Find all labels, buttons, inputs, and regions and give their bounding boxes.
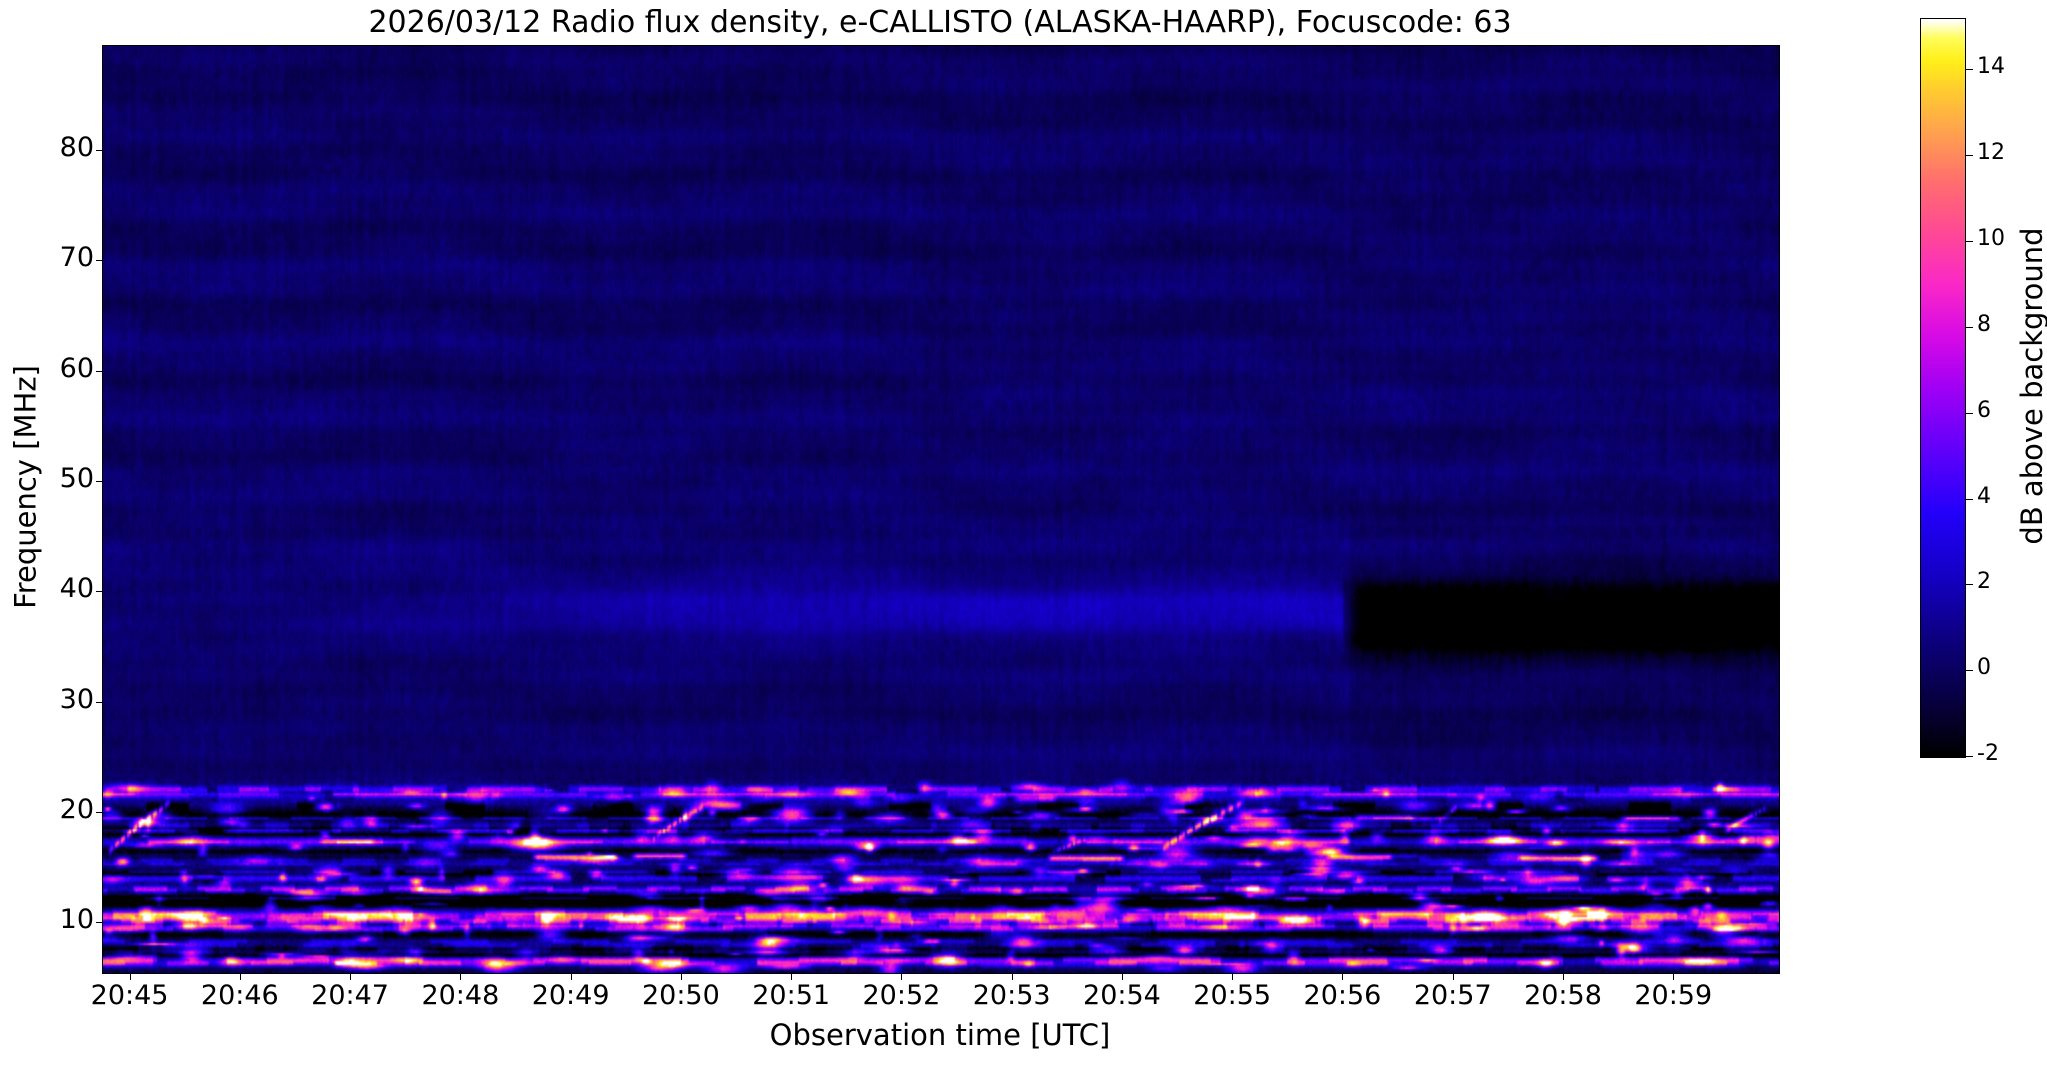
colorbar-tick-mark <box>1966 756 1973 757</box>
colorbar-tick-label: 2 <box>1977 569 1991 594</box>
colorbar-tick-label: 8 <box>1977 312 1991 337</box>
colorbar-tick-mark <box>1966 241 1973 242</box>
x-tick-mark <box>571 973 572 980</box>
y-tick-mark <box>96 371 103 372</box>
x-tick-mark <box>1342 973 1343 980</box>
colorbar-tick-mark <box>1966 499 1973 500</box>
y-axis-label: Frequency [MHz] <box>9 24 43 951</box>
y-tick-mark <box>96 150 103 151</box>
colorbar-tick-label: 4 <box>1977 484 1991 509</box>
x-tick-mark <box>901 973 902 980</box>
colorbar-tick-label: 10 <box>1977 226 2005 251</box>
x-tick-mark <box>681 973 682 980</box>
colorbar-tick-label: 14 <box>1977 54 2005 79</box>
colorbar-tick-mark <box>1966 327 1973 328</box>
x-axis-label: Observation time [UTC] <box>102 1018 1778 1052</box>
x-tick-mark <box>1563 973 1564 980</box>
colorbar-tick-mark <box>1966 413 1973 414</box>
spectrogram-image[interactable] <box>103 46 1779 973</box>
colorbar-gradient <box>1921 19 1965 757</box>
colorbar-tick-mark <box>1966 584 1973 585</box>
y-tick-mark <box>96 702 103 703</box>
x-tick-mark <box>1122 973 1123 980</box>
colorbar-tick-label: 0 <box>1977 655 1991 680</box>
x-tick-mark <box>1673 973 1674 980</box>
x-tick-mark <box>1012 973 1013 980</box>
x-tick-mark <box>1453 973 1454 980</box>
x-tick-mark <box>130 973 131 980</box>
colorbar-tick-label: 6 <box>1977 398 1991 423</box>
x-tick-mark <box>791 973 792 980</box>
x-tick-mark <box>460 973 461 980</box>
figure-canvas: 2026/03/12 Radio flux density, e-CALLIST… <box>0 0 2047 1067</box>
colorbar-tick-label: 12 <box>1977 140 2005 165</box>
colorbar-label: dB above background <box>2015 17 2047 755</box>
x-tick-label: 20:59 <box>1593 980 1753 1011</box>
colorbar-tick-mark <box>1966 155 1973 156</box>
colorbar[interactable] <box>1920 18 1966 758</box>
y-tick-mark <box>96 260 103 261</box>
page-title: 2026/03/12 Radio flux density, e-CALLIST… <box>102 4 1778 42</box>
x-tick-mark <box>350 973 351 980</box>
colorbar-tick-mark <box>1966 670 1973 671</box>
y-tick-mark <box>96 922 103 923</box>
y-tick-mark <box>96 591 103 592</box>
x-tick-mark <box>1232 973 1233 980</box>
y-tick-mark <box>96 481 103 482</box>
y-tick-mark <box>96 812 103 813</box>
colorbar-tick-mark <box>1966 69 1973 70</box>
spectrogram-axes[interactable] <box>102 45 1780 974</box>
x-tick-mark <box>240 973 241 980</box>
colorbar-tick-label: -2 <box>1977 741 1999 766</box>
